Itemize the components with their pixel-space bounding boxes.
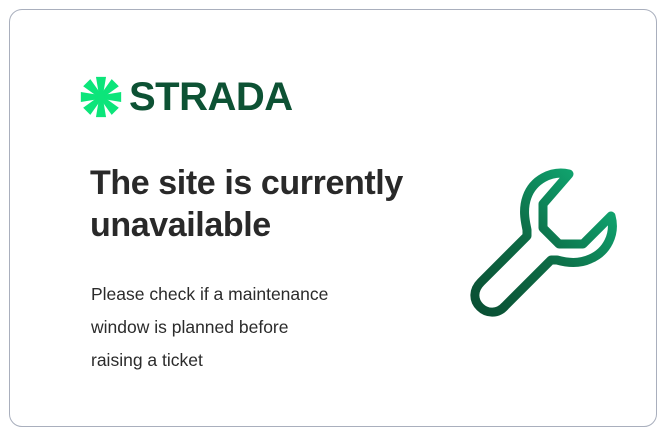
status-card: STRADA The site is currently unavailable… bbox=[9, 9, 657, 427]
description-line: Please check if a maintenance bbox=[91, 278, 411, 311]
strada-asterisk-icon bbox=[80, 76, 122, 118]
page-description: Please check if a maintenance window is … bbox=[91, 278, 411, 377]
page-title: The site is currently unavailable bbox=[90, 162, 420, 246]
description-line: raising a ticket bbox=[91, 344, 411, 377]
brand-wordmark: STRADA bbox=[129, 77, 293, 117]
error-page: STRADA The site is currently unavailable… bbox=[0, 0, 666, 436]
brand-lockup: STRADA bbox=[80, 76, 293, 118]
wrench-icon bbox=[465, 162, 617, 318]
description-line: window is planned before bbox=[91, 311, 411, 344]
status-card-content: STRADA The site is currently unavailable… bbox=[10, 10, 656, 426]
